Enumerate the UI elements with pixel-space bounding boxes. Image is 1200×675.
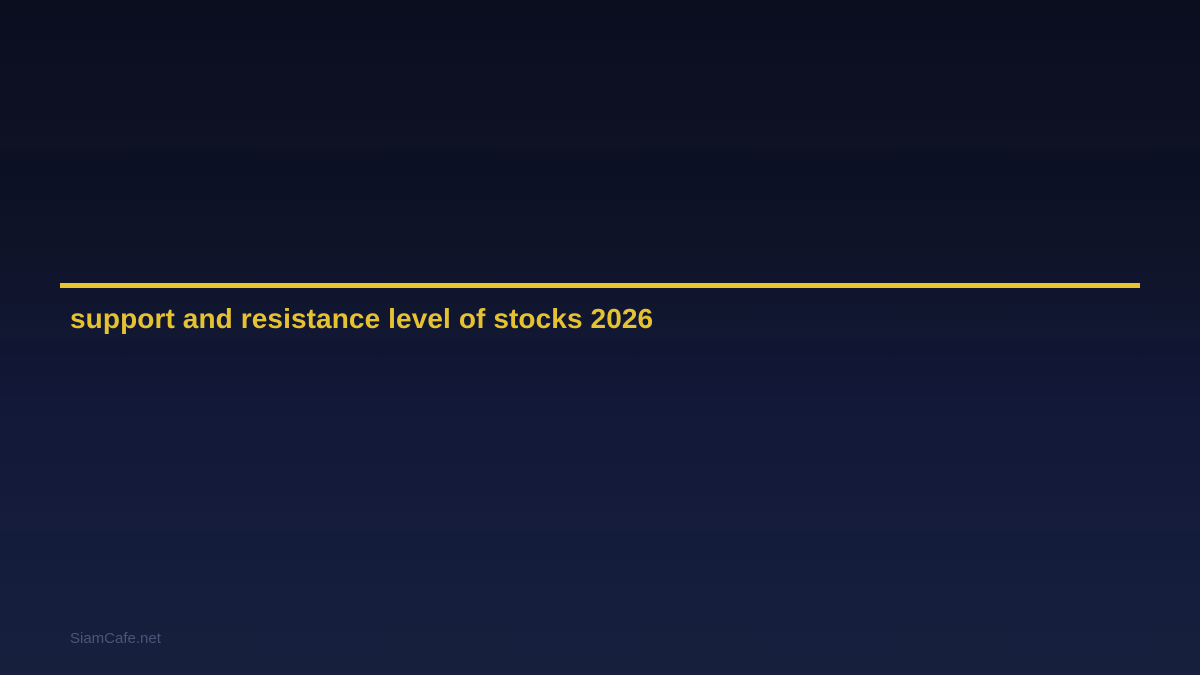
footer: SiamCafe.net: [70, 629, 161, 649]
source-attribution-label: SiamCafe.net: [70, 630, 161, 647]
title-block: support and resistance level of stocks 2…: [60, 283, 1140, 336]
gold-divider-rule: [60, 283, 1140, 288]
slide-canvas: support and resistance level of stocks 2…: [0, 0, 1200, 675]
page-title: support and resistance level of stocks 2…: [70, 302, 1140, 336]
